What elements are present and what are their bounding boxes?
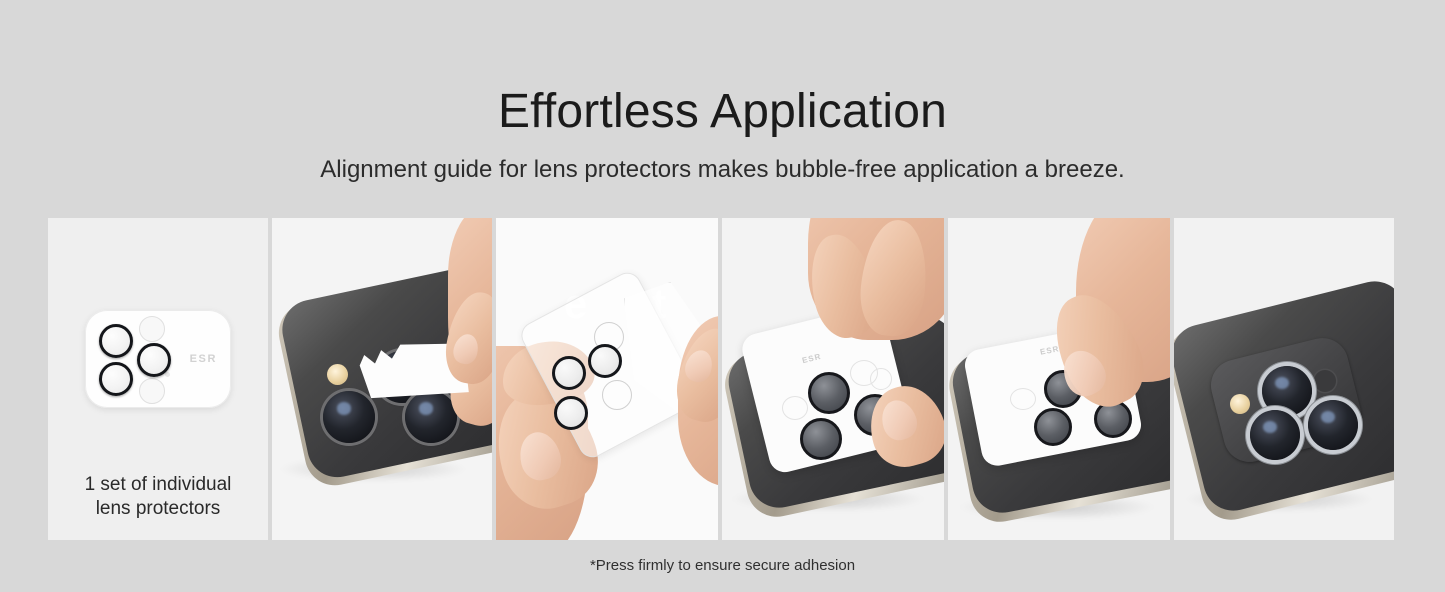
page-subtitle: Alignment guide for lens protectors make… — [0, 156, 1445, 185]
application-steps-strip: ESR 1 set of individual lens protectors — [48, 218, 1396, 540]
step-panel-kit-contents: ESR 1 set of individual lens protectors — [48, 218, 268, 540]
guide-outline-ring — [1010, 388, 1036, 410]
tray-flash-marker — [165, 372, 170, 377]
protected-camera-lens — [1308, 400, 1358, 450]
step-panel-finished-result — [1174, 218, 1394, 540]
guide-outline-ring — [782, 396, 808, 420]
lens-protector-ring — [99, 362, 133, 396]
lens-protector-ring — [808, 372, 850, 414]
footnote: *Press firmly to ensure secure adhesion — [0, 557, 1445, 574]
lens-protector-ring — [800, 418, 842, 460]
page-title: Effortless Application — [0, 85, 1445, 139]
lens-protector-tray: ESR — [85, 310, 231, 408]
panel-caption-line-2: lens protectors — [48, 497, 268, 522]
lens-protector-ring — [588, 344, 622, 378]
phone-camera-lens — [323, 391, 375, 443]
step-panel-clean-lenses — [272, 218, 492, 540]
phone-camera-lens — [405, 391, 457, 443]
panel-caption-line-1: 1 set of individual — [48, 473, 268, 498]
protected-camera-lens — [1262, 366, 1312, 416]
lens-protector-ring — [99, 324, 133, 358]
guide-outline-ring — [602, 380, 632, 410]
step-panel-align-guide: s ESR — [722, 218, 944, 540]
lens-protector-ring — [552, 356, 586, 390]
step-panel-peel-film: e t — [496, 218, 718, 540]
lens-protector-ring — [137, 343, 171, 377]
esr-brand-logo: ESR — [190, 353, 217, 365]
protected-camera-lens — [1250, 410, 1300, 460]
lens-protector-ring — [554, 396, 588, 430]
phone-flash — [327, 364, 348, 385]
tray-outline-ring — [139, 316, 165, 342]
guide-outline-ring — [870, 368, 892, 390]
tray-outline-ring — [139, 378, 165, 404]
step-panel-press-firmly: ESR — [948, 218, 1170, 540]
phone-flash — [1230, 394, 1250, 414]
lens-protector-ring — [1034, 408, 1072, 446]
panel-caption: 1 set of individual lens protectors — [48, 473, 268, 522]
effortless-application-banner: Effortless Application Alignment guide f… — [0, 0, 1445, 592]
lidar-sensor — [1314, 370, 1336, 392]
